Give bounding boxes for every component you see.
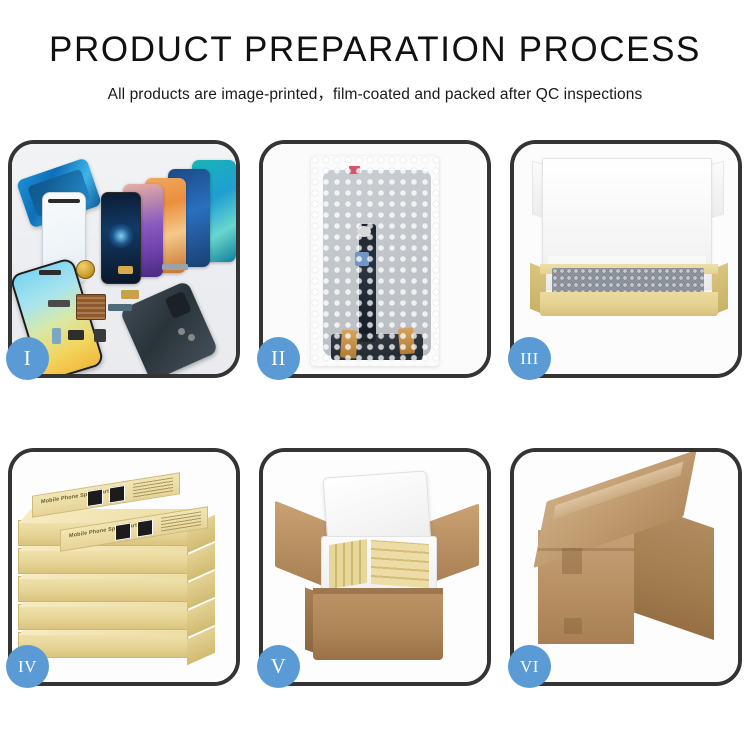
step-panel-5[interactable]: V — [259, 448, 491, 686]
page-title: PRODUCT PREPARATION PROCESS — [0, 32, 750, 69]
phone-lineup — [96, 160, 236, 272]
product-preparation-infographic: PRODUCT PREPARATION PROCESS All products… — [0, 0, 750, 750]
part-camera — [94, 329, 106, 342]
box-spec-lines — [133, 477, 173, 499]
part-antenna — [162, 264, 188, 270]
step-image-2 — [263, 144, 487, 374]
steps-grid: I II — [8, 140, 742, 686]
part-screw — [178, 328, 185, 335]
step-badge-1: I — [6, 337, 49, 380]
box-screen-swatch — [137, 519, 153, 538]
box-tray-front — [540, 292, 718, 316]
box-stack: Mobile Phone Spare Parts Mobile Phone Sp… — [18, 470, 230, 666]
part-bracket — [48, 300, 70, 307]
page-subtitle: All products are image-printed，film-coat… — [0, 82, 750, 104]
part-module — [68, 330, 84, 340]
stacked-box — [18, 548, 188, 574]
flex-circle-pad — [357, 226, 371, 237]
stacked-box — [18, 576, 188, 602]
flex-connector-pad — [355, 252, 369, 266]
step-panel-4[interactable]: Mobile Phone Spare Parts Mobile Phone Sp… — [8, 448, 240, 686]
step-badge-4: IV — [6, 645, 49, 688]
step-image-3 — [514, 144, 738, 374]
part-battery — [52, 328, 61, 344]
step-badge-5: V — [257, 645, 300, 688]
box-screen-swatch — [115, 522, 131, 541]
step-badge-3: III — [508, 337, 551, 380]
part-ribbon — [108, 304, 132, 311]
speaker-coil — [76, 260, 95, 279]
step-image-1 — [12, 144, 236, 374]
step-image-6 — [514, 452, 738, 682]
chip-component — [76, 294, 106, 320]
step-image-4: Mobile Phone Spare Parts Mobile Phone Sp… — [12, 452, 236, 682]
part-strip — [39, 270, 61, 275]
header: PRODUCT PREPARATION PROCESS All products… — [0, 0, 750, 104]
flex-cable-strip — [359, 224, 376, 342]
step-image-5 — [263, 452, 487, 682]
carton-seam — [538, 548, 634, 551]
gold-connector-right — [398, 327, 415, 354]
box-screen-swatch — [109, 485, 125, 504]
stacked-box — [18, 604, 188, 630]
step-panel-1[interactable]: I — [8, 140, 240, 378]
carton-front — [313, 588, 443, 660]
gold-connector-left — [340, 329, 358, 358]
part-flex-cable — [121, 290, 139, 299]
step-panel-3[interactable]: III — [510, 140, 742, 378]
part-screw — [188, 334, 195, 341]
part-flex-connector — [118, 266, 133, 274]
gold-boxes-left — [329, 539, 367, 589]
step-panel-6[interactable]: VI — [510, 448, 742, 686]
carton-tab — [562, 548, 582, 574]
lcd-assembly — [323, 170, 431, 356]
step-panel-2[interactable]: II — [259, 140, 491, 378]
step-badge-2: II — [257, 337, 300, 380]
step-badge-6: VI — [508, 645, 551, 688]
gold-boxes-right — [371, 540, 429, 588]
red-label-tab — [349, 166, 360, 174]
box-screen-swatch — [87, 488, 103, 507]
carton-tab — [564, 618, 582, 634]
